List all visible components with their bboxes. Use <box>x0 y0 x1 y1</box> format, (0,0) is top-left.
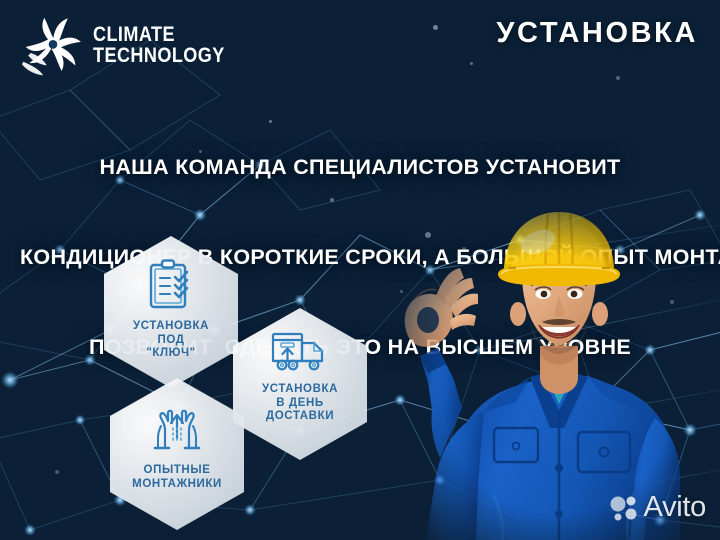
promo-poster: CLIMATE TECHNOLOGY УСТАНОВКА НАША КОМАНД… <box>0 0 720 540</box>
delivery-truck-icon <box>270 330 330 374</box>
avito-watermark-text: Avito <box>644 491 706 524</box>
badge-turnkey-label: УСТАНОВКА ПОД "КЛЮЧ" <box>133 320 209 361</box>
avito-watermark: Avito <box>609 491 706 524</box>
badge-sameday-label: УСТАНОВКА В ДЕНЬ ДОСТАВКИ <box>262 383 338 424</box>
brand-name-line1: CLIMATE <box>93 24 225 45</box>
brand-name: CLIMATE TECHNOLOGY <box>93 24 246 67</box>
brand-name-line2: TECHNOLOGY <box>93 45 225 66</box>
worker-photo <box>398 196 720 540</box>
page-title: УСТАНОВКА <box>496 17 698 50</box>
clipboard-checklist-icon <box>146 258 196 312</box>
hands-holding-ac-icon <box>149 404 205 452</box>
headline-line-1: НАША КОМАНДА СПЕЦИАЛИСТОВ УСТАНОВИТ <box>0 152 720 182</box>
avito-dots-icon <box>609 493 639 523</box>
badge-experts-label: ОПЫТНЫЕ МОНТАЖНИКИ <box>132 464 222 491</box>
fan-vortex-icon <box>22 12 84 78</box>
brand-logo: CLIMATE TECHNOLOGY <box>22 12 246 78</box>
